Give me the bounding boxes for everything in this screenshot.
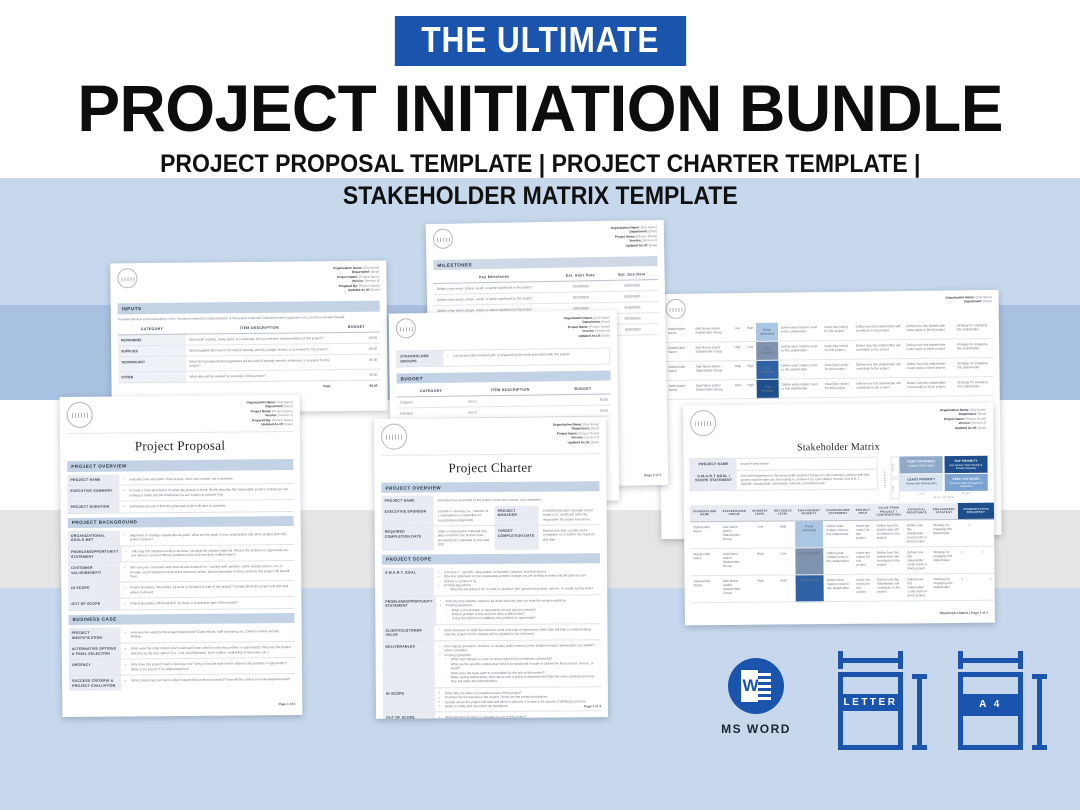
row-value: Estimated amount of time the proposed pr…	[120, 500, 294, 512]
matrix-col-8: POTENTIAL RESISTANCE	[904, 503, 930, 520]
a4-tick-left	[958, 651, 963, 669]
cell-detail-4: Strategy for engaging this stakeholder	[954, 376, 994, 395]
matrix-goal-label: S.M.A.R.T GOAL / SCOPE STATEMENT	[691, 470, 737, 490]
cell-category: PERSONNEL	[118, 334, 186, 346]
cell-detail-2: Define how this stakeholder will contrib…	[853, 321, 904, 340]
cell-group: Add Name and/or Stakeholder Group	[720, 522, 750, 549]
quadrant-y-tick-high: High	[891, 456, 900, 477]
meta-updated-value: [Date]	[649, 243, 657, 247]
row-text: Alignment to strategic organizational go…	[124, 532, 290, 542]
cell-resistance: Define how this stakeholder could resist…	[904, 520, 930, 547]
cell-budget: $0.00	[333, 343, 380, 354]
proposal-row: ORGANIZATIONAL GOALS METAlignment to str…	[68, 529, 294, 547]
brand-logo-icon	[396, 318, 416, 338]
charter-pair-row: REQUIRED COMPLETION DATEState or organiz…	[382, 525, 600, 550]
col-budget: BUDGET	[555, 384, 611, 395]
cell-name: Stakeholder Name	[666, 380, 693, 399]
meta-updated-label: Updated As Of:	[261, 422, 283, 426]
page-subtitle: PROJECT PROPOSAL TEMPLATE | PROJECT CHAR…	[160, 148, 920, 212]
cell-statement: Define what matters most to this stakeho…	[823, 548, 853, 575]
cell-detail-3: Define how this stakeholder could resist…	[903, 320, 954, 339]
bullet-item: Brief statement of what the end-user val…	[438, 627, 596, 637]
cell-influence: High	[744, 323, 757, 342]
cell-interest: Low	[749, 522, 771, 549]
meta-dept-label: Department:	[964, 300, 982, 304]
row-value: Project Boundary. What will NOT be done …	[120, 597, 294, 609]
section-heading: PROJECT BACKGROUND	[68, 516, 294, 528]
cell-detail-1: Insert key role(s) for this project	[821, 340, 853, 359]
cell-category: TECHNOLOGY	[118, 356, 186, 372]
matrix-col-5: STAKEHOLDER STATEMENT	[823, 504, 853, 521]
row-label: PROJECT DURATION	[68, 502, 120, 513]
section-heading: PROJECT OVERVIEW	[67, 459, 293, 471]
cell-group: Add Name and/or Stakeholder Group	[693, 361, 732, 380]
cell-detail-1: Insert key role(s) for this project	[822, 359, 854, 378]
inputs-table[interactable]: CATEGORY ITEM DESCRIPTION BUDGET PERSONN…	[118, 321, 381, 393]
cell-category: SUPPLIES	[118, 345, 186, 357]
meta-updated-value: [Date]	[285, 422, 293, 426]
cell-priority: Top Priority	[757, 360, 779, 379]
budget-section-heading: BUDGET	[397, 371, 611, 384]
cell-priority: Keep Satisfied	[757, 341, 779, 360]
cell-detail-4: Strategy for engaging this stakeholder	[954, 339, 994, 358]
cell-name: Stakeholder Name	[665, 342, 692, 361]
letter-side-cap-top	[912, 674, 927, 679]
col-budget: BUDGET	[333, 321, 380, 332]
cell-name: Stakeholder Name	[691, 576, 721, 603]
cell-name: Stakeholder Name	[690, 549, 720, 576]
meta-updated-label: Updated As Of:	[568, 440, 590, 444]
subtitle-line-2: STAKEHOLDER MATRIX TEMPLATE	[343, 182, 738, 210]
cell-strategy: Strategy for engaging this stakeholder	[930, 547, 959, 574]
charter-pair-row: EXECUTIVE SPONSORJob title or seniority …	[382, 505, 600, 527]
cell-statement: Define what matters most to this stakeho…	[824, 575, 854, 602]
document-meta: Organization Name: [Org Name] Department…	[945, 295, 991, 304]
cell-priority: Top Priority	[757, 379, 779, 398]
stakeholder-groups-label: STAKEHOLDER GROUPS	[397, 351, 443, 367]
ultimate-banner: THE ULTIMATE	[395, 16, 686, 66]
document-meta: Organization Name: [Org Name] Department…	[940, 408, 986, 430]
matrix-col-4: ENGAGEMENT PRIORITY	[795, 504, 823, 521]
row-value: Who are your customers both internal and…	[120, 561, 294, 582]
quadrant-cell-title: TOP PRIORITY	[946, 458, 985, 462]
ms-word-label: MS WORD	[716, 722, 796, 736]
total-value: $0.00	[333, 380, 380, 391]
charter-scope-row: PROBLEM/OPPORTUNITY STATEMENTTells why t…	[382, 595, 600, 626]
quadrant-cell[interactable]: KEEP SATISFIEDConsider Views & Keep/Hold…	[944, 474, 987, 491]
row-label-right: TARGET COMPLETION DATE	[495, 526, 539, 550]
charter-scope-row: S.M.A.R.T. GOALS.M.A.R.T. - Specific, me…	[382, 566, 600, 597]
cell-interest: Low	[731, 323, 744, 342]
row-label-left: EXECUTIVE SPONSOR	[382, 506, 434, 526]
cell-detail-0: Define what matters most to this stakeho…	[778, 322, 822, 341]
document-meta: Organization Name: [Org Name] Department…	[553, 422, 599, 444]
cell-influence: High	[771, 575, 795, 602]
cell-start-date: 00/00/0000	[555, 281, 607, 293]
row-value-left: State or organization-imposed due date c…	[434, 526, 495, 550]
matrix-col-7: VALUE FROM PROJECT / CONTRIBUTION	[873, 504, 903, 521]
row-value: S.M.A.R.T. - Specific, measurable, achie…	[434, 566, 600, 595]
row-text: Project Boundary. What WILL be done or i…	[124, 584, 290, 594]
meta-updated-label: Updated As Of:	[578, 333, 600, 337]
letter-size-label: LETTER	[843, 697, 898, 708]
cell-detail-0: Define what matters most to this stakeho…	[778, 341, 822, 361]
format-icons: W MS WORD LETTER A 4	[0, 640, 1080, 810]
charter-overview-heading: PROJECT OVERVIEW	[381, 481, 599, 493]
row-text: Provide a clear description on what this…	[123, 487, 289, 497]
cell-detail-2: Define how this stakeholder will contrib…	[853, 359, 904, 379]
proposal-row: OUT OF SCOPEProject Boundary. What will …	[68, 597, 294, 611]
letter-tick-left	[838, 651, 843, 669]
cell-group: Add Name and/or Stakeholder Group	[692, 342, 731, 361]
document-title: Stakeholder Matrix	[683, 441, 993, 455]
row-value: Tells why this initiative needs to be do…	[436, 595, 601, 624]
page-title: PROJECT INITIATION BUNDLE	[77, 72, 1003, 144]
proposal-row: PROBLEM/OPPORTUNITY STATEMENTTells why t…	[68, 545, 294, 563]
row-label: PROJECT NAME	[67, 474, 119, 485]
cell-interest: High	[749, 548, 771, 575]
row-value: Project Boundary. What WILL be done or i…	[120, 581, 294, 597]
milestones-section-heading: MILESTONES	[433, 256, 657, 270]
quadrant-cell-desc: Consider Views & Keep/Hold Supportive	[946, 481, 985, 488]
cell-priority: Keep Satisfied	[795, 548, 824, 575]
document-title: Project Charter	[374, 459, 606, 477]
brand-logo-icon	[67, 402, 93, 428]
table-row[interactable]: Stakeholder NameAdd Name and/or Stakehol…	[691, 573, 995, 603]
table-total-row: Total $0.00	[118, 380, 380, 393]
proposal-row: CUSTOMER VALUE/BENEFITWho are your custo…	[68, 561, 294, 583]
cell-group: Add Name and/or Stakeholder Group	[720, 576, 750, 603]
meta-dept-value: [Dept]	[983, 299, 991, 303]
cell-resistance: Define how this stakeholder could resist…	[904, 574, 930, 601]
matrix-col-6: PROJECT ROLE	[853, 504, 874, 521]
row-text: Estimated amount of time the proposed pr…	[124, 503, 290, 509]
cell-detail-4: Strategy for engaging this stakeholder	[954, 320, 994, 339]
quadrant-cell-desc: Monitor with Minimal Effort	[902, 482, 941, 486]
a4-page-shape: A 4	[958, 672, 1023, 750]
brand-logo-icon	[117, 268, 137, 288]
document-meta: Organization Name: [Org Name] Department…	[247, 400, 293, 427]
cell-start-date: 00/00/0000	[555, 292, 607, 304]
cell-due-date: 00/00/0000	[606, 291, 658, 303]
cell-influence: High	[771, 521, 795, 548]
cell-statement: Define what matters most to this stakeho…	[823, 521, 853, 548]
cell-group: Add Name and/or Stakeholder Group	[692, 323, 731, 342]
cell-budget: $0.00	[555, 394, 611, 406]
cell-detail-4: Strategy for engaging this stakeholder	[954, 358, 994, 377]
sub-item: Is this the right time to address this p…	[440, 616, 597, 621]
letter-page-shape: LETTER	[838, 672, 903, 750]
document-inputs[interactable]: Organization Name: [Org Name] Department…	[110, 261, 388, 414]
stakeholder-groups-value: List groups/roles involved with or impac…	[443, 349, 609, 367]
row-label: S.M.A.R.T. GOAL	[382, 567, 434, 595]
stakeholder-quadrant: INTEREST High Low KEEP INFORMEDEngage & …	[884, 456, 988, 500]
cell-name: Stakeholder Name	[665, 361, 692, 380]
matrix-col-1: STAKEHOLDER GROUP	[719, 505, 749, 522]
cell-interest: High	[731, 342, 744, 361]
row-label: CUSTOMER VALUE/BENEFIT	[68, 563, 120, 583]
cell-value: Define how this stakeholder will contrib…	[874, 547, 904, 574]
row-text: Project Boundary. What will NOT be done …	[124, 600, 290, 606]
cell-description: What technology/software/equipment will …	[186, 354, 333, 371]
matrix-project-name-label: PROJECT NAME	[691, 459, 737, 470]
letter-side-cap-bottom	[912, 745, 927, 750]
row-value-right: Internal due date, usually set for compl…	[539, 525, 600, 549]
proposal-row: PROJECT DURATIONEstimated amount of time…	[68, 500, 294, 514]
quadrant-x-tick-high: High	[945, 492, 988, 495]
row-label-right: PROJECT MANAGER	[495, 505, 539, 525]
a4-side-cap-top	[1032, 674, 1047, 679]
cell-influence: High	[744, 360, 757, 379]
cell-detail-3: Define how this stakeholder could resist…	[904, 377, 955, 397]
sub-item: What are we going to do, in order to pro…	[438, 587, 596, 593]
brand-logo-icon	[666, 299, 686, 319]
cell-detail-2: Define how this stakeholder will contrib…	[853, 378, 904, 398]
matrix-project-name-value[interactable]: Insert Project Name	[737, 458, 877, 470]
row-label: IN SCOPE	[68, 583, 120, 598]
meta-updated-value: [Date]	[591, 440, 599, 444]
a4-tick-right	[1018, 651, 1023, 669]
cell-budget: $0.00	[333, 354, 380, 369]
quadrant-cell[interactable]: KEEP INFORMEDEngage & Keep Happy	[900, 456, 943, 473]
col-category: CATEGORY	[118, 323, 186, 334]
document-title: Project Proposal	[60, 437, 300, 455]
cell-budget: $0.00	[333, 369, 380, 380]
cell-interest: High	[750, 575, 772, 602]
cell-detail-2: Define how this stakeholder will contrib…	[853, 340, 904, 360]
row-label: EXECUTIVE SUMMARY	[67, 486, 119, 501]
charter-overview-pairs: EXECUTIVE SPONSORJob title or seniority …	[382, 505, 600, 550]
meta-updated-value: [Date]	[602, 333, 610, 337]
cell-strategy: Strategy for engaging this stakeholder	[930, 574, 959, 601]
inputs-intro: Provided below is a brief description of…	[118, 314, 380, 321]
cell-detail-3: Define how this stakeholder could resist…	[904, 358, 955, 378]
subtitle-line-1: PROJECT PROPOSAL TEMPLATE | PROJECT CHAR…	[160, 150, 920, 178]
table-row[interactable]: Stakeholder NameAdd Name and/or Stakehol…	[666, 376, 994, 399]
cell-detail-1: Insert key role(s) for this project	[822, 378, 854, 397]
meta-updated-value: [Date]	[978, 425, 986, 429]
row-label-left: REQUIRED COMPLETION DATE	[382, 526, 434, 550]
cell-role: Insert key role(s) for this project	[853, 521, 874, 548]
cell-influence: Low	[771, 548, 795, 575]
table-row[interactable]: Stakeholder NameAdd Name and/or Stakehol…	[690, 546, 995, 576]
letter-side-rule	[917, 674, 922, 750]
cell-priority: Keep Informed	[795, 521, 824, 548]
cell-detail-0: Define what matters most to this stakeho…	[778, 360, 822, 380]
row-value: Tells why this initiative needs to be do…	[121, 545, 294, 562]
row-label: PROBLEM/OPPORTUNITY STATEMENT	[382, 596, 436, 624]
row-value-right: Certification/project manager (insert le…	[539, 505, 600, 525]
cell-detail-0: Define what matters most to this stakeho…	[779, 379, 823, 399]
row-text: Indicates tone and intent of the project…	[123, 476, 289, 482]
matrix-col-frequency: COMMUNICATION FREQUENCY	[958, 503, 994, 520]
row-text: How was the need for this project determ…	[125, 629, 291, 639]
meta-updated-label: Updated As Of:	[348, 288, 370, 292]
letter-size-icon: LETTER	[838, 648, 930, 758]
quadrant-cell-title: KEEP SATISFIED	[946, 476, 985, 480]
cell-interest: High	[732, 380, 745, 399]
total-label: Total	[187, 380, 334, 392]
charter-scope-heading: PROJECT SCOPE	[382, 553, 600, 565]
cell-influence: Low	[744, 341, 757, 360]
cell-interest: High	[732, 361, 745, 380]
matrix-col-3: INFLUENCE LEVEL	[771, 505, 795, 522]
cell-detail-3: Define how this stakeholder could resist…	[903, 339, 954, 359]
row-label: CLIENT/CUSTOMER VALUE	[382, 625, 434, 641]
row-label: OUT OF SCOPE	[68, 599, 120, 610]
matrix-col-2: INTEREST LEVEL	[749, 505, 771, 522]
brand-logo-icon	[381, 424, 407, 450]
a4-top-rule	[958, 658, 1023, 663]
document-stakeholder-matrix[interactable]: Organization Name: [Org Name] Department…	[683, 403, 995, 626]
meta-updated-value: [Date]	[371, 288, 379, 292]
quadrant-cell-desc: Engage & Keep Happy	[902, 464, 941, 468]
row-value-left: Job title or seniority (i.e., member of …	[434, 506, 495, 526]
cell-priority: Top Priority	[795, 575, 824, 602]
cell-name: Stakeholder Name	[690, 522, 720, 549]
row-value: Brief statement of what the end-user val…	[434, 624, 600, 640]
cell-influence: High	[744, 379, 757, 398]
row-value: Provide a clear description on what this…	[119, 484, 293, 500]
ms-word-icon: W	[728, 658, 784, 714]
quadrant-y-tick-low: Low	[891, 479, 900, 500]
a4-size-label: A 4	[963, 699, 1018, 710]
quadrant-cells: KEEP INFORMEDEngage & Keep HappyTOP PRIO…	[900, 456, 988, 491]
row-label: ORGANIZATIONAL GOALS MET	[68, 530, 120, 546]
cell-priority: Keep Informed	[756, 323, 778, 342]
page-footer: Stakeholder Matrix | Page 1 of 3	[933, 607, 995, 620]
cell-value: Define how this stakeholder will contrib…	[874, 574, 904, 601]
stakeholder-groups-text: List groups/roles involved with or impac…	[447, 352, 605, 359]
quadrant-cell[interactable]: LEAST PRIORITYMonitor with Minimal Effor…	[900, 474, 943, 491]
document-meta: Organization Name: [Org Name] Department…	[611, 225, 657, 248]
quadrant-cell-desc: Key Partner, Work Closely & Closely Regu…	[946, 463, 985, 470]
quadrant-cell[interactable]: TOP PRIORITYKey Partner, Work Closely & …	[944, 456, 987, 473]
inputs-section-heading: INPUTS	[118, 301, 380, 314]
cell-group: Add Name and/or Stakeholder Group	[720, 549, 750, 576]
row-label: PROBLEM/OPPORTUNITY STATEMENT	[68, 547, 122, 563]
matrix-goal-value[interactable]: One brief statement on the measurable po…	[737, 469, 877, 489]
page-footer: Page 2 of 3	[637, 469, 668, 482]
row-value: Alignment to strategic organizational go…	[120, 529, 294, 546]
budget-table[interactable]: CATEGORY ITEM DESCRIPTION BUDGET Categor…	[397, 384, 611, 420]
cell-group: Add Name and/or Stakeholder Group	[693, 380, 732, 399]
cell-name: Stakeholder Name	[665, 324, 692, 343]
letter-top-rule	[838, 658, 903, 663]
stakeholder-matrix-table[interactable]: STAKEHOLDER NAMESTAKEHOLDER GROUPINTERES…	[690, 503, 995, 604]
quadrant-cell-title: LEAST PRIORITY	[902, 477, 941, 481]
row-label: PROJECT NAME	[381, 496, 433, 507]
brand-logo-icon	[690, 410, 716, 436]
cell-strategy: Strategy for engaging this stakeholder	[930, 520, 959, 547]
cell-description: Item 2	[465, 406, 555, 418]
cell-value: Define how this stakeholder will contrib…	[874, 520, 904, 547]
cell-resistance: Define how this stakeholder could resist…	[904, 547, 930, 574]
matrix-col-0: STAKEHOLDER NAME	[690, 505, 720, 522]
cell-due-date: 00/00/0000	[606, 280, 658, 292]
cell-budget: $0.00	[555, 405, 611, 417]
letter-tick-right	[898, 651, 903, 669]
matrix-col-9: ENGAGEMENT STRATEGY	[930, 503, 958, 520]
cell-budget: $0.00	[333, 332, 380, 343]
row-value: Indicates tone and intent of the project…	[119, 473, 293, 485]
row-text: Who are your customers both internal and…	[124, 564, 290, 579]
cell-category: OTHER	[118, 371, 186, 383]
quadrant-cell-title: KEEP INFORMED	[902, 459, 941, 463]
meta-updated-label: Updated As Of:	[626, 243, 648, 247]
document-meta: Organization Name: [Org Name] Department…	[564, 316, 610, 339]
cell-role: Insert key role(s) for this project	[853, 548, 874, 575]
section-heading: BUSINESS CASE	[69, 613, 295, 625]
row-text: Tells why this initiative needs to be do…	[125, 548, 290, 558]
cell-role: Insert key role(s) for this project	[853, 575, 874, 602]
a4-side-rule	[1037, 674, 1042, 750]
meta-updated-label: Updated As Of:	[955, 425, 977, 429]
cell-detail-1: Insert key role(s) for this project	[821, 322, 853, 341]
page-header: THE ULTIMATE PROJECT INITIATION BUNDLE P…	[0, 0, 1080, 178]
word-letter-w: W	[742, 671, 759, 701]
stakeholder-back-table[interactable]: Stakeholder NameAdd Name and/or Stakehol…	[665, 320, 994, 400]
document-meta: Organization Name: [Org Name] Department…	[333, 266, 379, 293]
table-row[interactable]: Stakeholder NameAdd Name and/or Stakehol…	[690, 519, 995, 549]
a4-size-icon: A 4	[958, 648, 1050, 758]
ms-word-icon-group: W MS WORD	[716, 658, 796, 736]
a4-side-cap-bottom	[1032, 745, 1047, 750]
brand-logo-icon	[433, 229, 453, 249]
